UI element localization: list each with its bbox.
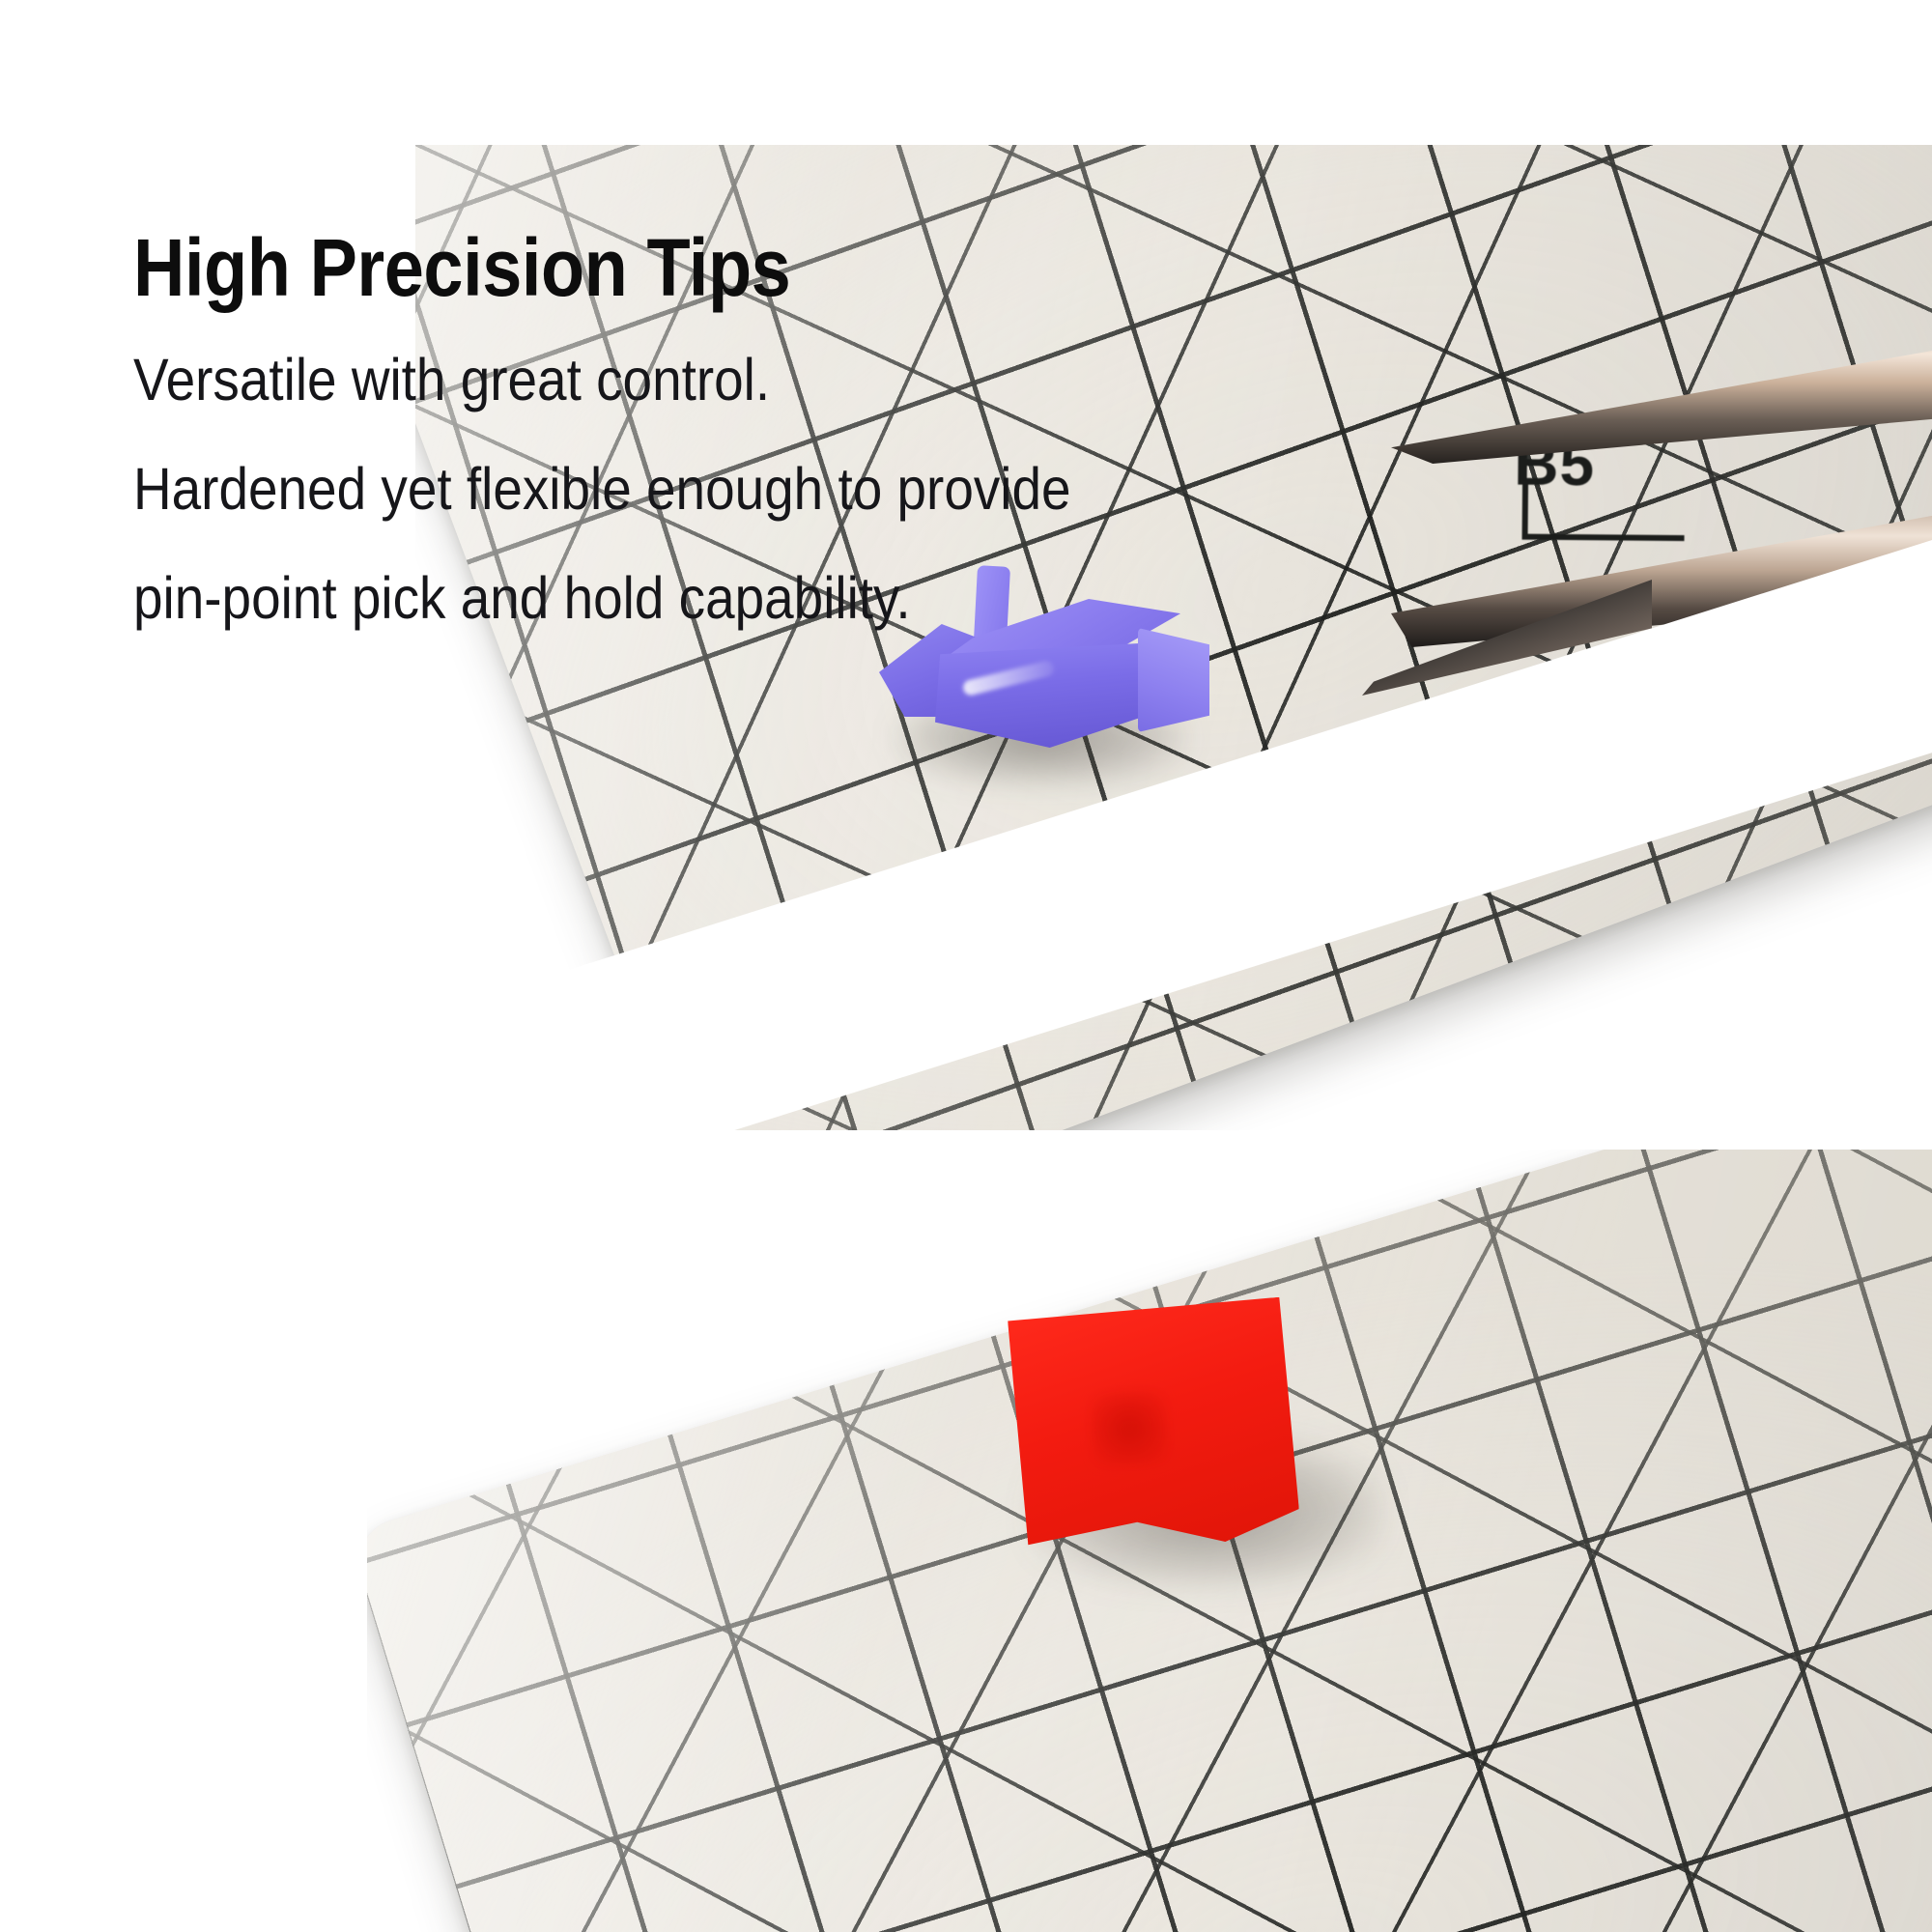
purple-clip-face-right [1138,628,1209,732]
purple-clip [879,599,1217,753]
photo-bottom-bent-tweezers [367,1150,1932,1932]
red-chip-highlight [1090,1390,1169,1466]
product-feature-card: B5 [0,0,1932,1932]
tweezers-arm-upper [1391,261,1932,464]
red-chip [999,1296,1301,1552]
